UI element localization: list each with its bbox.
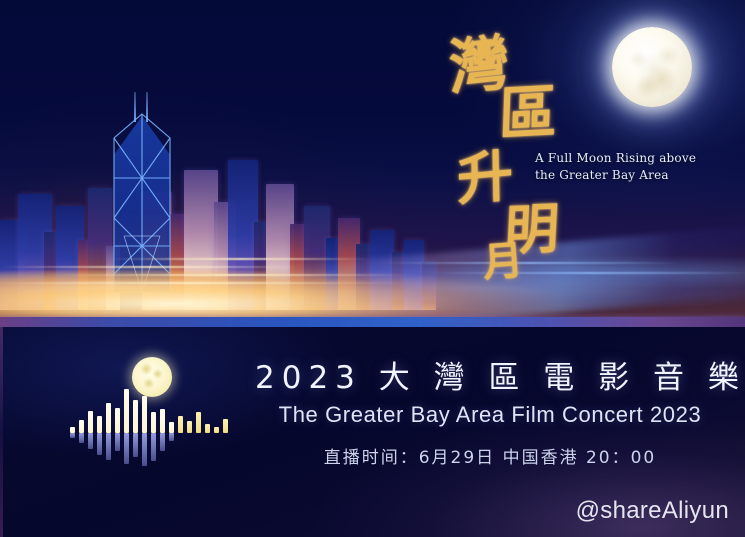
concert-poster: 灣 區 升 明 月 A Full Moon Rising above the G… [0, 0, 745, 537]
audio-waveform-moon-logo [70, 357, 230, 467]
broadcast-info: 直播时间：6月29日 中国香港 20：00 [255, 443, 725, 468]
waveform-bars [70, 393, 230, 467]
light-trails [0, 230, 745, 318]
english-subtitle-line2: the Greater Bay Area [535, 167, 715, 184]
banner-left-edge [0, 327, 3, 537]
night-scene: 灣 區 升 明 月 A Full Moon Rising above the G… [0, 0, 745, 318]
english-subtitle-line1: A Full Moon Rising above [535, 150, 715, 167]
calligraphy-char-2: 區 [498, 82, 558, 143]
english-subtitle: A Full Moon Rising above the Greater Bay… [535, 150, 715, 185]
small-moon-icon [132, 357, 172, 397]
info-banner: 2023 大 灣 區 電 影 音 樂 晚 會 The Greater Bay A… [0, 327, 745, 537]
full-moon-icon [612, 27, 692, 107]
concert-title-cn: 2023 大 灣 區 電 影 音 樂 晚 會 [255, 361, 725, 395]
concert-title-en: The Greater Bay Area Film Concert 2023 [255, 402, 725, 428]
banner-text-block: 2023 大 灣 區 電 影 音 樂 晚 會 The Greater Bay A… [255, 361, 725, 468]
section-divider [0, 317, 745, 327]
watermark: @shareAliyun [576, 497, 729, 525]
